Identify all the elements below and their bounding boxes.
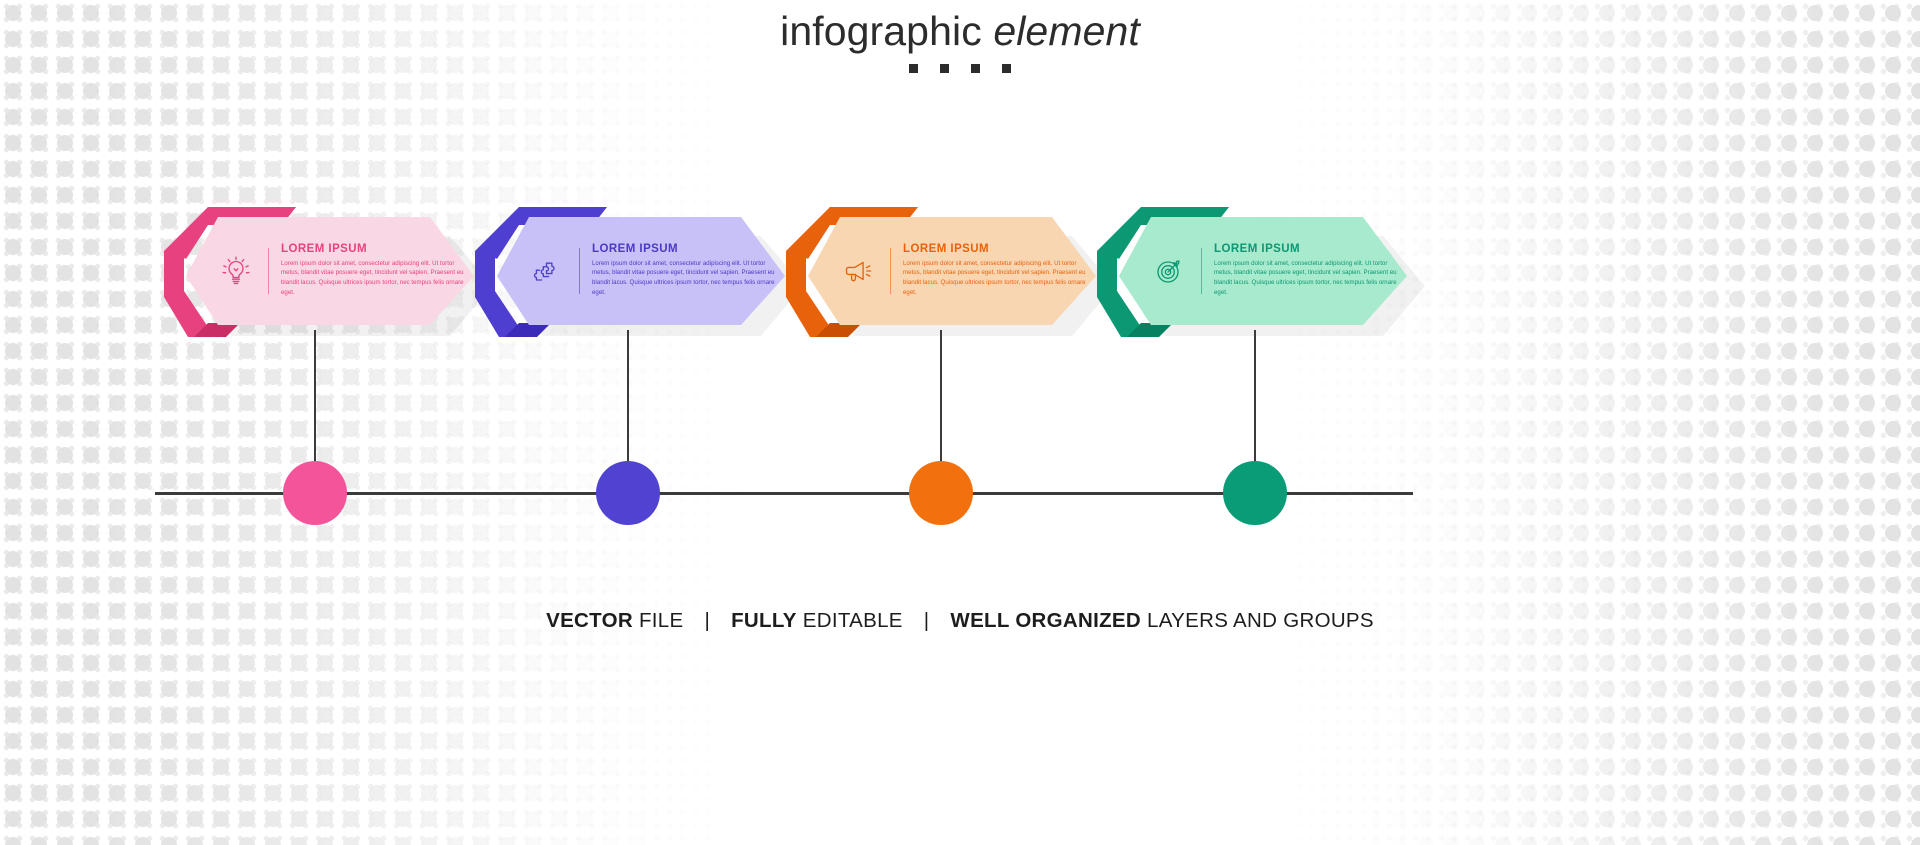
title-text: infographic element [0, 8, 1920, 55]
step-text-column-4: LOREM IPSUMLorem ipsum dolor sit amet, c… [1214, 244, 1411, 298]
infographic-canvas: infographic element LOREM IPSUMLorem ips… [0, 0, 1920, 845]
footer-vector-bold: VECTOR [546, 609, 633, 632]
footer-editable-regular: EDITABLE [803, 609, 903, 632]
footer-layers-regular: LAYERS AND GROUPS [1147, 609, 1374, 632]
step-card-content-3: LOREM IPSUMLorem ipsum dolor sit amet, c… [822, 240, 1100, 302]
title-dot-2 [940, 64, 949, 73]
target-icon [1141, 243, 1197, 299]
title-decorative-dots [0, 64, 1920, 73]
title-dot-1 [909, 64, 918, 73]
timeline-node-3[interactable] [909, 461, 973, 525]
step-text-column-1: LOREM IPSUMLorem ipsum dolor sit amet, c… [281, 244, 478, 298]
title-dot-3 [971, 64, 980, 73]
step-body-2: Lorem ipsum dolor sit amet, consectetur … [592, 259, 785, 298]
footer-separator-1: | [689, 609, 725, 632]
step-heading-4: LOREM IPSUM [1214, 244, 1407, 256]
timeline-node-4[interactable] [1223, 461, 1287, 525]
halftone-pattern-left [0, 0, 660, 845]
step-card-1[interactable]: LOREM IPSUMLorem ipsum dolor sit amet, c… [178, 205, 478, 330]
step-card-4[interactable]: LOREM IPSUMLorem ipsum dolor sit amet, c… [1111, 205, 1411, 330]
puzzle-piece-icon [519, 243, 575, 299]
step-body-4: Lorem ipsum dolor sit amet, consectetur … [1214, 259, 1407, 298]
step-card-2[interactable]: LOREM IPSUMLorem ipsum dolor sit amet, c… [489, 205, 789, 330]
step-text-column-2: LOREM IPSUMLorem ipsum dolor sit amet, c… [592, 244, 789, 298]
step-heading-1: LOREM IPSUM [281, 244, 474, 256]
title-dot-4 [1002, 64, 1011, 73]
card-divider-3 [890, 248, 891, 294]
timeline-node-2[interactable] [596, 461, 660, 525]
step-connector-1 [314, 330, 316, 462]
step-card-3[interactable]: LOREM IPSUMLorem ipsum dolor sit amet, c… [800, 205, 1100, 330]
card-divider-4 [1201, 248, 1202, 294]
step-heading-3: LOREM IPSUM [903, 244, 1096, 256]
halftone-pattern-right-fine [1240, 0, 1920, 845]
title-main-word: infographic [780, 8, 982, 54]
step-connector-3 [940, 330, 942, 462]
step-body-1: Lorem ipsum dolor sit amet, consectetur … [281, 259, 474, 298]
step-connector-4 [1254, 330, 1256, 462]
title-accent-word: element [993, 8, 1140, 54]
step-card-content-1: LOREM IPSUMLorem ipsum dolor sit amet, c… [200, 240, 478, 302]
footer-separator-2: | [909, 609, 945, 632]
step-text-column-3: LOREM IPSUMLorem ipsum dolor sit amet, c… [903, 244, 1100, 298]
step-heading-2: LOREM IPSUM [592, 244, 785, 256]
megaphone-icon [830, 243, 886, 299]
card-divider-1 [268, 248, 269, 294]
footer-fully-bold: FULLY [731, 609, 797, 632]
lightbulb-icon [208, 243, 264, 299]
halftone-pattern-left-fine [0, 0, 760, 845]
step-body-3: Lorem ipsum dolor sit amet, consectetur … [903, 259, 1096, 298]
page-title: infographic element [0, 8, 1920, 73]
footer-caption: VECTOR FILE | FULLY EDITABLE | WELL ORGA… [0, 609, 1920, 633]
step-connector-2 [627, 330, 629, 462]
card-divider-2 [579, 248, 580, 294]
halftone-pattern-right [1360, 0, 1920, 845]
step-card-content-4: LOREM IPSUMLorem ipsum dolor sit amet, c… [1133, 240, 1411, 302]
timeline-node-1[interactable] [283, 461, 347, 525]
footer-wellorganized-bold: WELL ORGANIZED [950, 609, 1141, 632]
step-card-content-2: LOREM IPSUMLorem ipsum dolor sit amet, c… [511, 240, 789, 302]
footer-file-regular: FILE [639, 609, 684, 632]
